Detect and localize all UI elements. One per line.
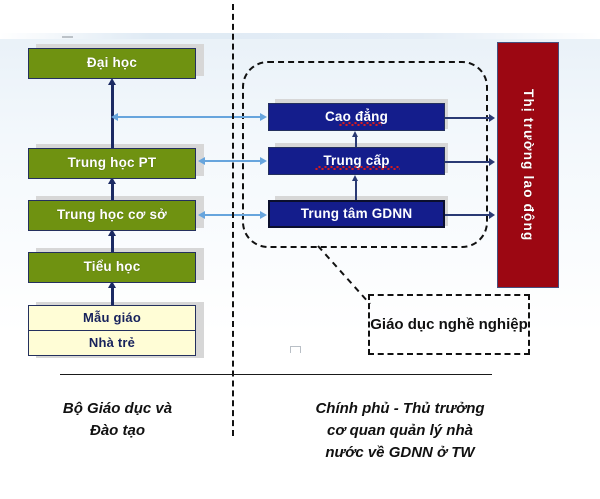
node-thi-truong-lao-dong-label: Thị trường lao động: [521, 89, 535, 241]
trung-cap-spellcheck-underline: [315, 166, 400, 170]
caption-right-line2: cơ quan quản lý nhà: [260, 420, 540, 442]
background-wash-edge: [0, 33, 600, 39]
caption-separator-rule: [60, 374, 492, 375]
stray-artifact-top: [62, 36, 73, 38]
node-dai-hoc[interactable]: Đại học: [28, 48, 196, 79]
vocational-group-label-box: Giáo dục nghề nghiệp: [368, 294, 530, 355]
market-link-caodang-line: [445, 117, 490, 119]
market-link-trungcap-arrow: [489, 158, 495, 166]
cao-dang-spellcheck-underline: [339, 122, 382, 126]
connector-trungcap-to-caodang-arrow: [352, 131, 358, 137]
node-trung-hoc-pt[interactable]: Trung học PT: [28, 148, 196, 179]
node-trung-hoc-co-so-label: Trung học cơ sở: [57, 208, 167, 222]
connector-mamnon-to-tieuhoc: [111, 286, 114, 306]
node-tieu-hoc-label: Tiểu học: [84, 260, 141, 274]
crosslink-thpt-trungcap-arrow-left: [198, 157, 205, 165]
vocational-group-label-text: Giáo dục nghề nghiệp: [370, 315, 528, 335]
node-trung-tam-gdnn[interactable]: Trung tâm GDNN: [268, 200, 445, 228]
crosslink-thcs-gdnn-arrow-right: [260, 211, 267, 219]
node-tieu-hoc[interactable]: Tiểu học: [28, 252, 196, 283]
crosslink-thcs-gdnn-arrow-left: [198, 211, 205, 219]
caption-right-line3: nước về GDNN ở TW: [260, 442, 540, 464]
connector-gdnn-to-trungcap-arrow: [352, 175, 358, 181]
caption-left-line1: Bộ Giáo dục và: [20, 398, 215, 420]
market-link-trungcap-line: [445, 161, 490, 163]
caption-left-line2: Đào tạo: [20, 420, 215, 442]
node-dai-hoc-label: Đại học: [87, 56, 137, 70]
node-trung-hoc-pt-label: Trung học PT: [68, 156, 157, 170]
node-thi-truong-lao-dong[interactable]: Thị trường lao động: [497, 42, 559, 288]
node-trung-tam-gdnn-label: Trung tâm GDNN: [301, 207, 413, 221]
diagram-canvas: Đại học Trung học PT Trung học cơ sở Tiể…: [0, 0, 600, 499]
node-cao-dang[interactable]: Cao đẳng: [268, 103, 445, 131]
vertical-divider-dashed: [232, 4, 234, 436]
crosslink-daihoc-caodang-line: [117, 116, 261, 118]
caption-right-line1: Chính phủ - Thủ trưởng: [260, 398, 540, 420]
stray-artifact: [290, 346, 301, 353]
market-link-gdnn-arrow: [489, 211, 495, 219]
node-mau-giao[interactable]: Mẫu giáo: [28, 305, 196, 331]
connector-thcs-to-thpt: [111, 182, 114, 201]
node-mau-giao-label: Mẫu giáo: [83, 311, 141, 325]
connector-thpt-to-daihoc-arrow: [108, 78, 116, 85]
node-nha-tre-label: Nhà trẻ: [89, 336, 135, 350]
caption-right: Chính phủ - Thủ trưởng cơ quan quản lý n…: [260, 398, 540, 463]
node-trung-hoc-co-so[interactable]: Trung học cơ sở: [28, 200, 196, 231]
node-nha-tre[interactable]: Nhà trẻ: [28, 330, 196, 356]
crosslink-daihoc-caodang-arrow-left: [111, 113, 118, 121]
node-trung-cap[interactable]: Trung cấp: [268, 147, 445, 175]
connector-gdnn-to-trungcap: [355, 180, 357, 200]
crosslink-daihoc-caodang-arrow-right: [260, 113, 267, 121]
market-link-caodang-arrow: [489, 114, 495, 122]
connector-tieuhoc-to-thcs: [111, 234, 114, 253]
market-link-gdnn-line: [445, 214, 490, 216]
crosslink-thpt-trungcap-arrow-right: [260, 157, 267, 165]
caption-left: Bộ Giáo dục và Đào tạo: [20, 398, 215, 442]
